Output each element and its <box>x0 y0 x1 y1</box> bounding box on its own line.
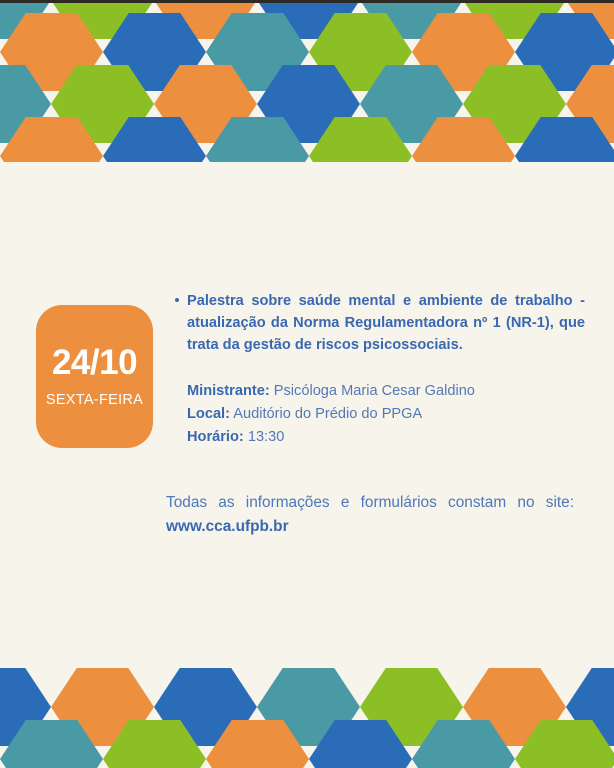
hexagon-blue <box>309 720 412 768</box>
footer-site-block: Todas as informações e formulários const… <box>166 492 596 539</box>
detail-row-local: Local: Auditório do Prédio do PPGA <box>187 403 587 426</box>
top-hexagon-pattern <box>0 0 614 162</box>
detail-row-ministrante: Ministrante: Psicóloga Maria Cesar Galdi… <box>187 380 587 403</box>
hexagon-teal <box>412 720 515 768</box>
hexagon-teal <box>206 117 309 162</box>
date-badge-day: 24/10 <box>52 345 137 380</box>
bullet-dot-icon <box>175 298 187 302</box>
hex-row <box>0 720 614 768</box>
detail-label-ministrante: Ministrante: <box>187 383 270 399</box>
event-bullet-text: Palestra sobre saúde mental e ambiente d… <box>187 290 587 357</box>
footer-info-line: Todas as informações e formulários const… <box>166 492 574 514</box>
hexagon-green <box>515 720 614 768</box>
hexagon-orange <box>206 720 309 768</box>
hexagon-green <box>309 117 412 162</box>
poster-canvas: 24/10 SEXTA-FEIRA Palestra sobre saúde m… <box>0 0 614 768</box>
poster-content: 24/10 SEXTA-FEIRA Palestra sobre saúde m… <box>0 162 614 668</box>
date-badge-weekday: SEXTA-FEIRA <box>46 393 143 408</box>
hex-row <box>0 117 614 162</box>
hexagon-orange <box>412 117 515 162</box>
hexagon-green <box>103 720 206 768</box>
bottom-hexagon-pattern <box>0 668 614 768</box>
event-bullet-item: Palestra sobre saúde mental e ambiente d… <box>173 290 587 357</box>
detail-value-horario: 13:30 <box>248 429 285 445</box>
top-hairline <box>0 0 614 3</box>
hexagon-teal <box>0 720 103 768</box>
event-detail-list: Ministrante: Psicóloga Maria Cesar Galdi… <box>173 380 587 449</box>
detail-label-horario: Horário: <box>187 429 244 445</box>
hexagon-orange <box>0 117 103 162</box>
detail-value-local: Auditório do Prédio do PPGA <box>233 406 422 422</box>
date-badge: 24/10 SEXTA-FEIRA <box>36 305 153 448</box>
footer-site-url[interactable]: www.cca.ufpb.br <box>166 516 596 538</box>
detail-label-local: Local: <box>187 406 230 422</box>
hexagon-blue <box>103 117 206 162</box>
detail-value-ministrante: Psicóloga Maria Cesar Galdino <box>274 383 475 399</box>
hexagon-blue <box>515 117 614 162</box>
event-info-block: Palestra sobre saúde mental e ambiente d… <box>173 290 587 449</box>
detail-row-horario: Horário: 13:30 <box>187 426 587 449</box>
